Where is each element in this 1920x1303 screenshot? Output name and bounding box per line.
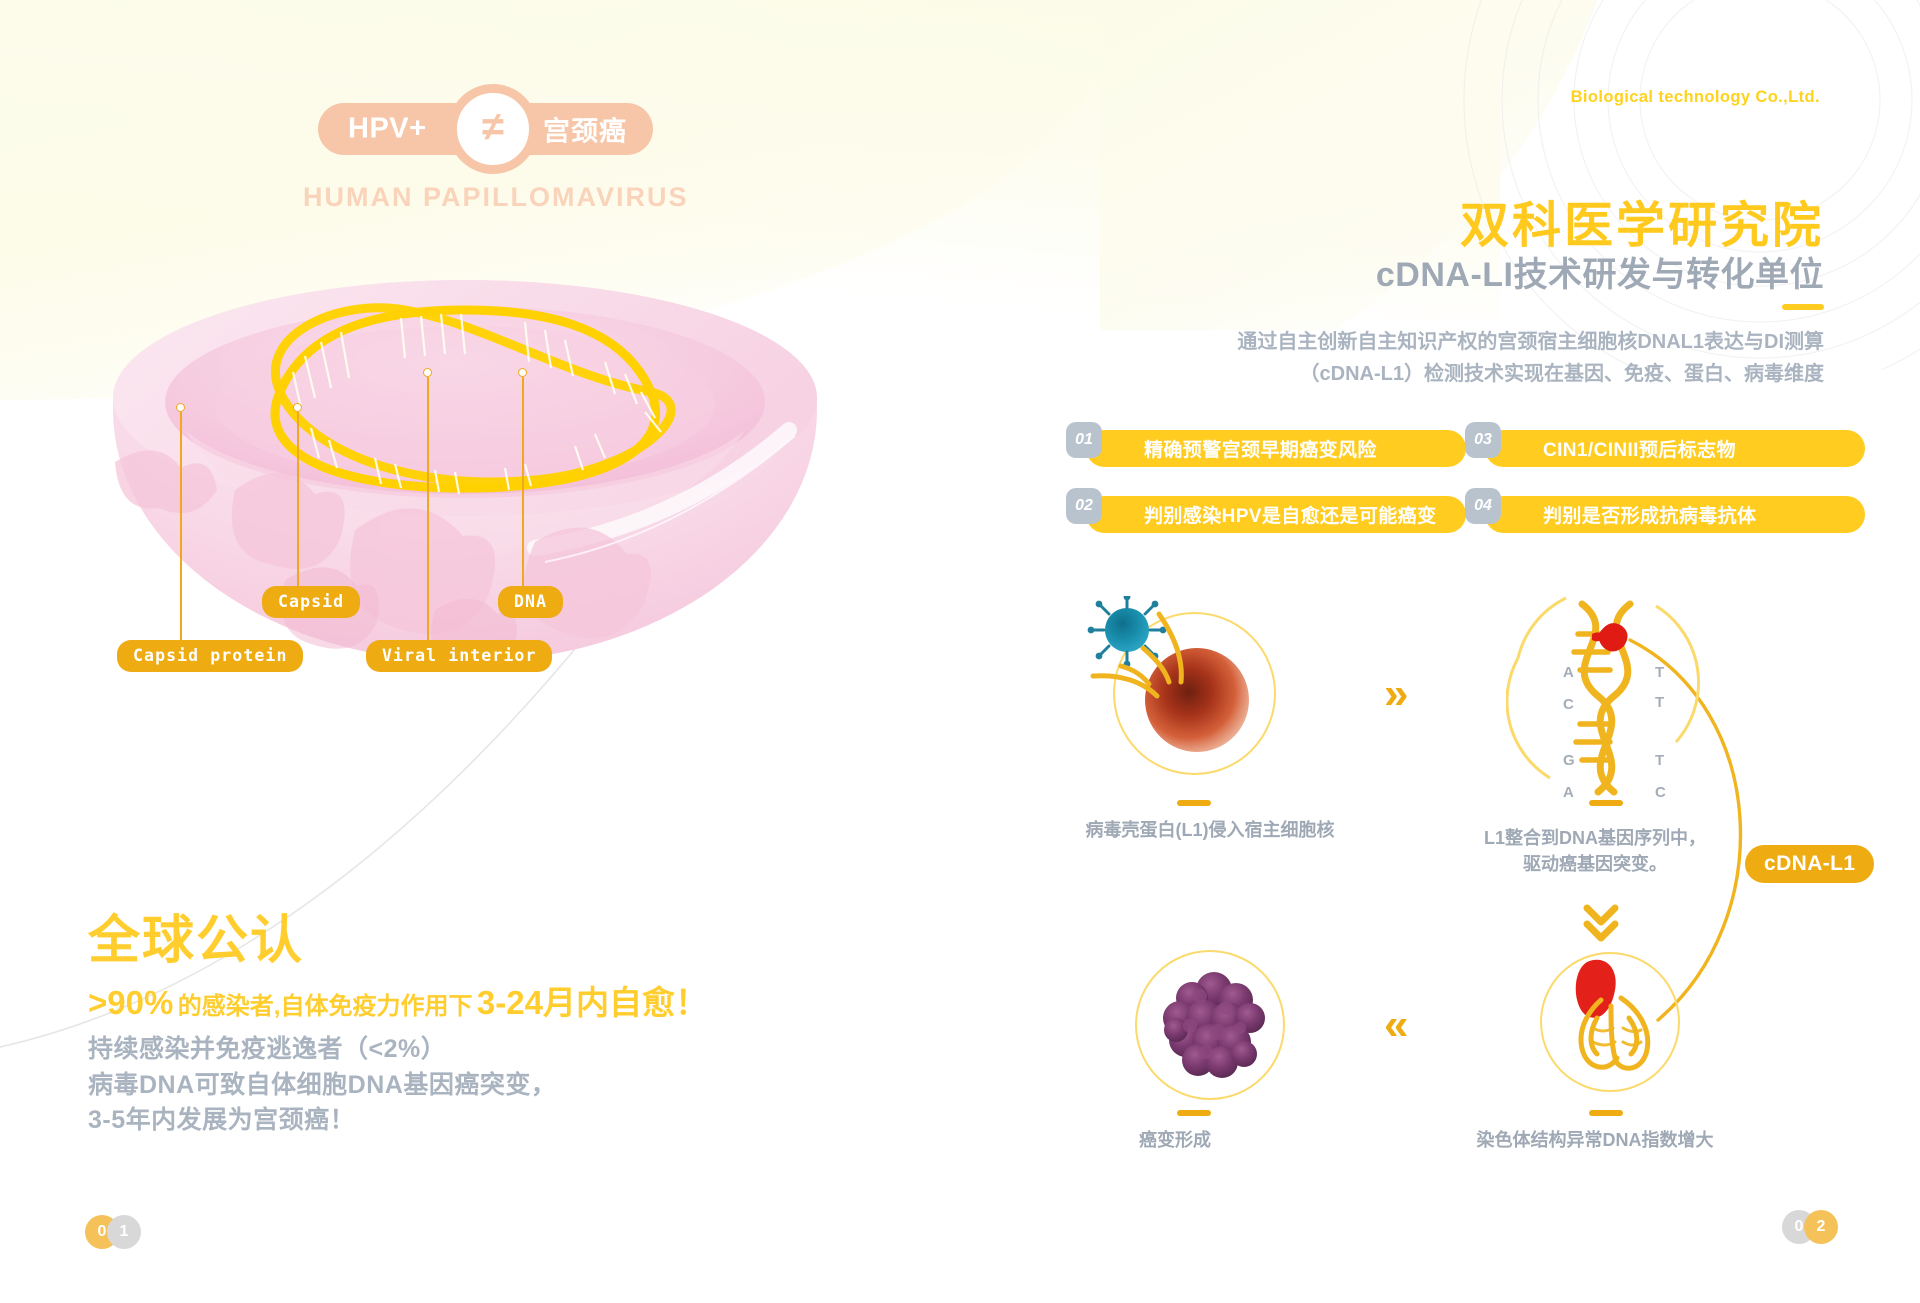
page-number-right: 0 2 [1782,1210,1838,1244]
step2-dash [1589,800,1623,806]
callout-line-viral-interior [427,377,429,640]
step2-caption-line-1: L1整合到DNA基因序列中， [1470,826,1720,852]
label-capsid: Capsid [262,586,360,618]
dna-letter-left-2: C [1563,696,1574,713]
step3-chromosome-graphic [1535,940,1705,1110]
callout-line-capsid-protein [180,412,182,640]
dna-letter-right-2: T [1655,694,1664,711]
stat-percent: >90% [88,984,173,1021]
arrow-right-icon: » [1384,672,1408,716]
step1-virus-cell-graphic [1085,596,1315,806]
stat-tail-text: 3-24月内自愈！ [477,984,708,1021]
cdna-l1-tag: cDNA-L1 [1745,845,1874,883]
callout-dot-capsid-protein [176,403,185,412]
hpv-subtitle: HUMAN PAPILLOMAVIRUS [303,182,689,213]
step3-dash [1589,1110,1623,1116]
virus-illustration [105,280,825,700]
step2-circle-placeholder [1516,600,1696,780]
step1-dash [1177,800,1211,806]
label-dna: DNA [498,586,563,618]
page-right-digit-2: 2 [1804,1210,1838,1244]
feature-label-03: CIN1/CINII预后标志物 [1485,435,1736,462]
global-consensus-title: 全球公认 [88,898,304,973]
global-body-line-3: 3-5年内发展为宫颈癌！ [88,1103,556,1139]
callout-dot-viral-interior [423,368,432,377]
feature-pill-02[interactable]: 判别感染HPV是自愈还是可能癌变 [1086,496,1466,533]
feature-label-04: 判别是否形成抗病毒抗体 [1485,501,1756,528]
gold-divider [1782,304,1824,310]
feature-label-02: 判别感染HPV是自愈还是可能癌变 [1086,501,1436,528]
institute-description-line-1: 通过自主创新自主知识产权的宫颈宿主细胞核DNAL1表达与DI测算 [1237,327,1824,359]
feature-number-01: 01 [1066,422,1102,458]
step2-caption: L1整合到DNA基因序列中， 驱动癌基因突变。 [1470,826,1720,877]
global-body-line-1: 持续感染并免疫逃逸者（<2%） [88,1032,556,1068]
hpv-badge-label: HPV+ [348,113,427,146]
stat-middle-text: 的感染者,自体免疫力作用下 [178,993,473,1020]
callout-line-capsid [297,412,299,587]
page-number-left: 0 1 [85,1215,141,1249]
step1-caption: 病毒壳蛋白(L1)侵入宿主细胞核 [1075,818,1345,844]
global-body-line-2: 病毒DNA可致自体细胞DNA基因癌突变， [88,1068,556,1104]
poster-canvas: HPV+ 宫颈癌 ≠ HUMAN PAPILLOMAVIRUS [0,0,1920,1303]
feature-pill-01[interactable]: 精确预警宫颈早期癌变风险 [1086,430,1466,467]
callout-dot-dna [518,368,527,377]
page-left-digit-2: 1 [107,1215,141,1249]
label-viral-interior: Viral interior [366,640,552,672]
institute-description: 通过自主创新自主知识产权的宫颈宿主细胞核DNAL1表达与DI测算 （cDNA-L… [1237,327,1824,390]
callout-line-dna [522,377,524,587]
institute-description-line-2: （cDNA-L1）检测技术实现在基因、免疫、蛋白、病毒维度 [1237,359,1824,391]
dna-letter-right-4: C [1655,784,1666,801]
dna-letter-right-1: T [1655,664,1664,681]
step4-dash [1177,1110,1211,1116]
step2-caption-line-2: 驱动癌基因突变。 [1470,852,1720,878]
feature-pill-04[interactable]: 判别是否形成抗病毒抗体 [1485,496,1865,533]
dna-letter-left-3: G [1563,752,1575,769]
cervical-cancer-label: 宫颈癌 [543,110,627,149]
step3-caption: 染色体结构异常DNA指数增大 [1470,1128,1720,1154]
dna-letter-right-3: T [1655,752,1664,769]
feature-pill-03[interactable]: CIN1/CINII预后标志物 [1485,430,1865,467]
arrow-down-icon [1578,898,1624,944]
step4-caption: 癌变形成 [1075,1128,1275,1154]
label-capsid-protein: Capsid protein [117,640,303,672]
global-stat-line: >90% 的感染者,自体免疫力作用下 3-24月内自愈！ [88,976,708,1024]
dna-letter-left-1: A [1563,664,1574,681]
institute-subtitle: cDNA-LI技术研发与转化单位 [1376,247,1824,296]
arc-decoration [1200,0,1920,370]
virus-capsid-graphic [105,280,825,700]
step4-tumor-graphic [1140,950,1290,1110]
feature-number-04: 04 [1465,488,1501,524]
dna-letter-left-4: A [1563,784,1574,801]
callout-dot-capsid [293,403,302,412]
feature-number-03: 03 [1465,422,1501,458]
feature-label-01: 精确预警宫颈早期癌变风险 [1086,435,1377,462]
arrow-left-icon: « [1384,1003,1408,1047]
global-body-text: 持续感染并免疫逃逸者（<2%） 病毒DNA可致自体细胞DNA基因癌突变， 3-5… [88,1032,556,1139]
feature-number-02: 02 [1066,488,1102,524]
not-equal-glyph: ≠ [482,107,504,147]
company-name: Biological technology Co.,Ltd. [1571,88,1820,107]
not-equal-icon: ≠ [448,84,538,174]
